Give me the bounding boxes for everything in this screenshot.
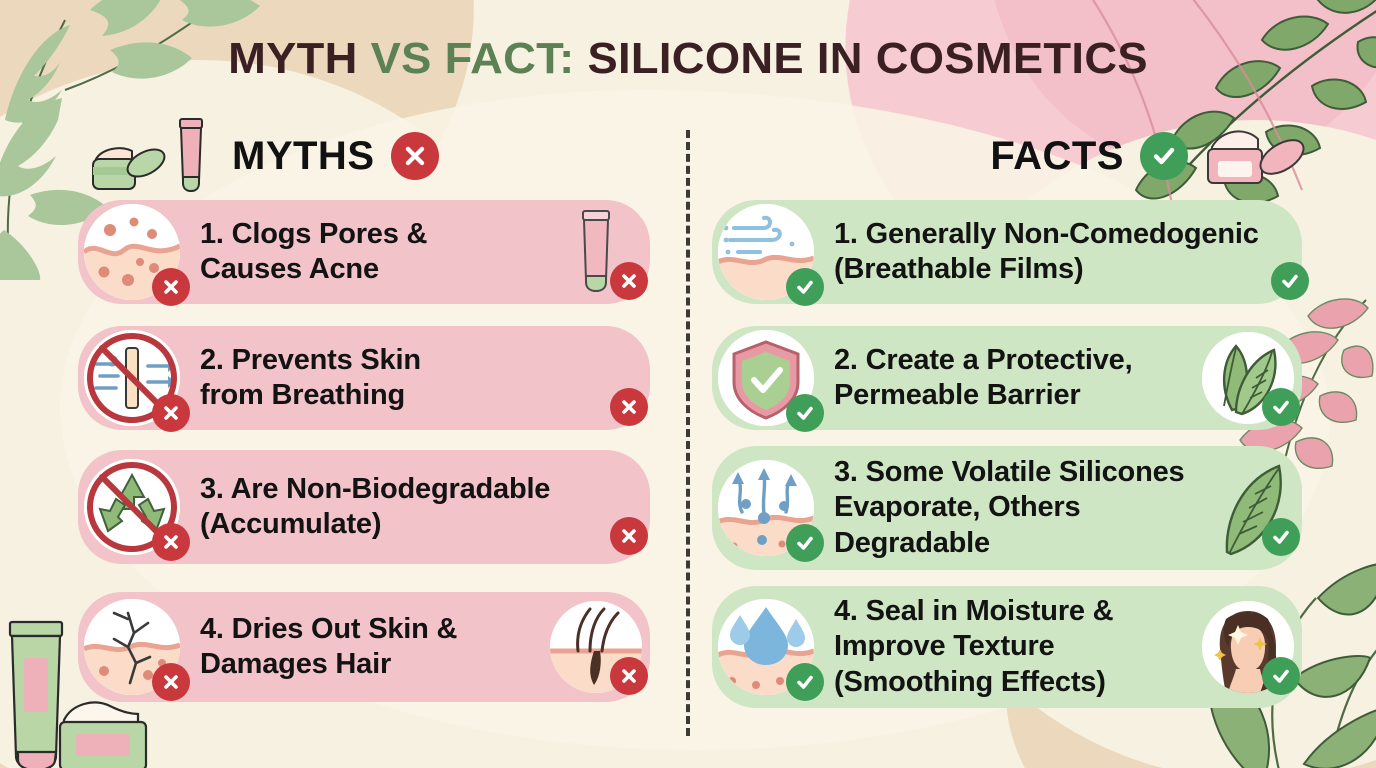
text-line: 2. Create a Protective, — [834, 343, 1192, 378]
cross-icon — [619, 397, 639, 417]
check-icon-badge — [786, 524, 824, 562]
hair-follicle-icon — [550, 601, 642, 693]
check-icon-badge — [786, 268, 824, 306]
myths-heading: MYTHS — [232, 134, 375, 179]
no-airflow-barrier-icon — [84, 330, 180, 426]
dashed-vertical-divider — [686, 130, 690, 736]
fact-card-3-text: 3. Some Volatile Silicones Evaporate, Ot… — [814, 455, 1202, 561]
text-line: (Accumulate) — [200, 507, 592, 542]
check-icon — [1279, 270, 1301, 292]
text-line: 4. Seal in Moisture & — [834, 594, 1192, 629]
myth-card-2[interactable]: 2. Prevents Skin from Breathing — [78, 326, 650, 430]
myths-column: MYTHS — [78, 118, 663, 702]
pink-cream-jar-icon — [1202, 121, 1306, 192]
check-icon — [794, 671, 816, 693]
check-icon-badge — [1262, 518, 1300, 556]
check-icon — [1150, 142, 1178, 170]
cross-icon-badge — [152, 394, 190, 432]
card-end-slot — [550, 332, 642, 424]
cross-icon-badge — [610, 517, 648, 555]
double-leaf-icon — [1202, 332, 1294, 424]
myth-card-3[interactable]: 3. Are Non-Biodegradable (Accumulate) — [78, 450, 650, 564]
text-line: 3. Are Non-Biodegradable — [200, 472, 592, 507]
text-line: Degradable — [834, 526, 1192, 561]
myth-card-1[interactable]: 1. Clogs Pores & Causes Acne — [78, 200, 650, 304]
title-part-vs-fact: VS FACT: — [371, 34, 575, 83]
check-icon — [794, 276, 816, 298]
text-line: from Breathing — [200, 378, 540, 413]
text-line: Damages Hair — [200, 647, 540, 682]
title-part-silicone: SILICONE IN COSMETICS — [575, 34, 1148, 83]
text-line: 1. Generally Non-Comedogenic — [834, 217, 1259, 252]
fact-card-4-text: 4. Seal in Moisture & Improve Texture (S… — [814, 594, 1202, 700]
text-line: (Smoothing Effects) — [834, 665, 1192, 700]
text-line: Evaporate, Others — [834, 490, 1192, 525]
check-icon-badge — [1271, 262, 1309, 300]
myth-card-4-text: 4. Dries Out Skin & Damages Hair — [180, 612, 550, 683]
woman-hair-icon — [1202, 601, 1294, 693]
no-recycle-icon — [84, 459, 180, 555]
myth-card-2-text: 2. Prevents Skin from Breathing — [180, 343, 550, 414]
fact-card-4[interactable]: 4. Seal in Moisture & Improve Texture (S… — [712, 586, 1302, 708]
evaporation-skin-icon — [718, 460, 814, 556]
cross-icon — [161, 532, 181, 552]
cross-icon — [619, 666, 639, 686]
text-line: 3. Some Volatile Silicones — [834, 455, 1192, 490]
shield-check-icon — [718, 330, 814, 426]
text-line: 2. Prevents Skin — [200, 343, 540, 378]
cross-icon — [402, 143, 428, 169]
check-icon-badge — [1140, 132, 1188, 180]
fact-card-1[interactable]: 1. Generally Non-Comedogenic (Breathable… — [712, 200, 1302, 304]
text-line: Causes Acne — [200, 252, 540, 287]
cosmetic-tube-icon — [168, 117, 214, 195]
check-icon-badge — [1262, 657, 1300, 695]
check-icon-badge — [786, 663, 824, 701]
check-icon — [1270, 396, 1292, 418]
infographic-canvas: MYTH VS FACT: SILICONE IN COSMETICS — [0, 0, 1376, 768]
text-line: 1. Clogs Pores & — [200, 217, 540, 252]
cross-icon-badge — [152, 523, 190, 561]
facts-column: FACTS — [712, 118, 1312, 708]
cross-icon-badge — [610, 657, 648, 695]
title-part-myth: MYTH — [228, 34, 371, 83]
check-icon-badge — [1262, 388, 1300, 426]
card-end-slot — [602, 461, 642, 553]
text-line: (Breathable Films) — [834, 252, 1259, 287]
page-title: MYTH VS FACT: SILICONE IN COSMETICS — [0, 34, 1376, 84]
fact-card-1-text: 1. Generally Non-Comedogenic (Breathable… — [814, 217, 1269, 288]
leaf-icon — [1202, 462, 1294, 554]
check-icon-badge — [786, 394, 824, 432]
cross-icon-badge — [391, 132, 439, 180]
pink-tube-icon — [550, 206, 642, 298]
cracked-skin-icon — [84, 599, 180, 695]
text-line: Improve Texture — [834, 629, 1192, 664]
cross-icon — [619, 526, 639, 546]
fact-card-2[interactable]: 2. Create a Protective, Permeable Barrie… — [712, 326, 1302, 430]
cross-icon-badge — [610, 388, 648, 426]
check-icon — [1270, 526, 1292, 548]
text-line: Permeable Barrier — [834, 378, 1192, 413]
header-cosmetic-icons — [88, 117, 214, 195]
fact-card-2-text: 2. Create a Protective, Permeable Barrie… — [814, 343, 1202, 414]
check-icon — [794, 402, 816, 424]
airflow-skin-icon — [718, 204, 814, 300]
check-icon — [794, 532, 816, 554]
acne-skin-icon — [84, 204, 180, 300]
cross-icon — [619, 271, 639, 291]
facts-header: FACTS — [712, 118, 1312, 194]
facts-heading: FACTS — [990, 134, 1124, 179]
cross-icon — [161, 403, 181, 423]
check-icon — [1270, 665, 1292, 687]
cross-icon — [161, 277, 181, 297]
water-drop-skin-icon — [718, 599, 814, 695]
text-line: 4. Dries Out Skin & — [200, 612, 540, 647]
myth-card-1-text: 1. Clogs Pores & Causes Acne — [180, 217, 550, 288]
myth-card-4[interactable]: 4. Dries Out Skin & Damages Hair — [78, 592, 650, 702]
myth-card-3-text: 3. Are Non-Biodegradable (Accumulate) — [180, 472, 602, 543]
cross-icon-badge — [610, 262, 648, 300]
cross-icon — [161, 672, 181, 692]
card-end-slot — [1269, 206, 1303, 298]
cross-icon-badge — [152, 268, 190, 306]
myths-header: MYTHS — [78, 118, 663, 194]
cream-jar-icon — [88, 133, 166, 195]
cross-icon-badge — [152, 663, 190, 701]
fact-card-3[interactable]: 3. Some Volatile Silicones Evaporate, Ot… — [712, 446, 1302, 570]
